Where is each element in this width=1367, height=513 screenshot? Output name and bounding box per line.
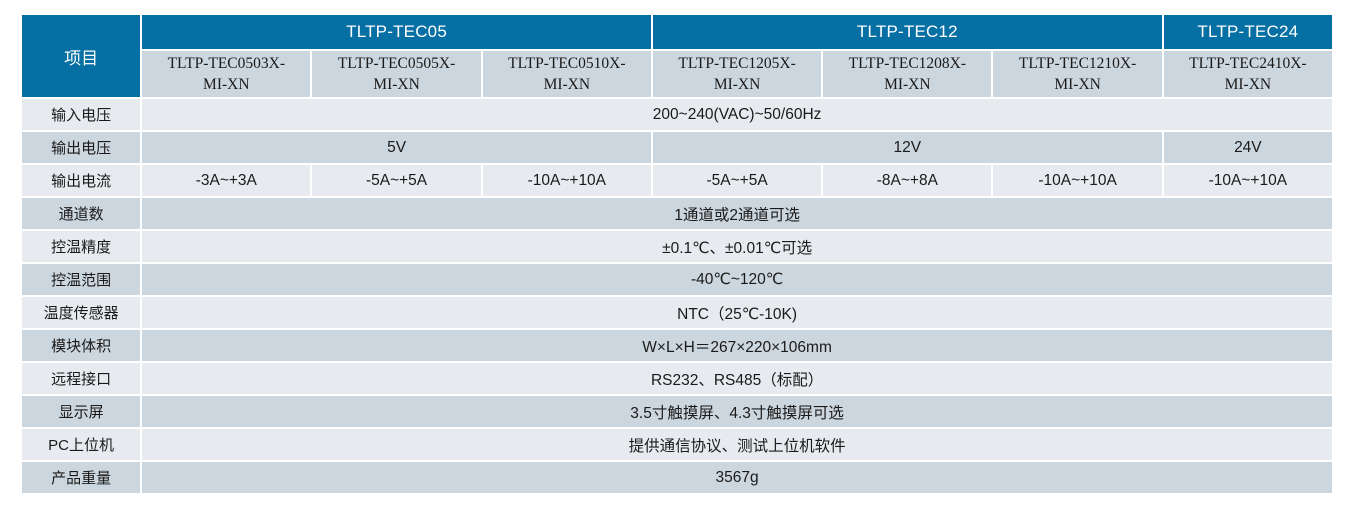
row-value: 24V bbox=[1163, 131, 1333, 164]
header-cell-item: 项目 bbox=[21, 14, 141, 98]
row-value: 5V bbox=[141, 131, 652, 164]
row-label: 产品重量 bbox=[21, 461, 141, 494]
table-row: 输出电压5V12V24V bbox=[21, 131, 1333, 164]
table-row: 远程接口RS232、RS485（标配） bbox=[21, 362, 1333, 395]
header-model-code: TLTP-TEC1208X‐MI‐XN bbox=[822, 50, 992, 98]
row-label: PC上位机 bbox=[21, 428, 141, 461]
header-model-code: TLTP-TEC1210X‐MI‐XN bbox=[992, 50, 1162, 98]
table-row: 输入电压200~240(VAC)~50/60Hz bbox=[21, 98, 1333, 131]
table-row: 温度传感器NTC（25℃-10K) bbox=[21, 296, 1333, 329]
table-body: 输入电压200~240(VAC)~50/60Hz输出电压5V12V24V输出电流… bbox=[21, 98, 1333, 494]
specification-table: 项目 TLTP-TEC05TLTP-TEC12TLTP-TEC24 TLTP-T… bbox=[21, 14, 1333, 494]
row-value: -10A~+10A bbox=[482, 164, 652, 197]
header-model-code: TLTP-TEC1205X‐MI‐XN bbox=[652, 50, 822, 98]
table-row: 控温精度±0.1℃、±0.01℃可选 bbox=[21, 230, 1333, 263]
header-series-group: TLTP-TEC24 bbox=[1163, 14, 1333, 50]
row-value: -5A~+5A bbox=[652, 164, 822, 197]
row-value: ±0.1℃、±0.01℃可选 bbox=[141, 230, 1333, 263]
row-label: 通道数 bbox=[21, 197, 141, 230]
row-label: 模块体积 bbox=[21, 329, 141, 362]
row-value: -8A~+8A bbox=[822, 164, 992, 197]
row-value: 200~240(VAC)~50/60Hz bbox=[141, 98, 1333, 131]
row-value: -10A~+10A bbox=[1163, 164, 1333, 197]
header-model-code: TLTP-TEC0505X‐MI‐XN bbox=[311, 50, 481, 98]
row-value: -3A~+3A bbox=[141, 164, 311, 197]
row-label: 显示屏 bbox=[21, 395, 141, 428]
row-label: 温度传感器 bbox=[21, 296, 141, 329]
row-label: 输入电压 bbox=[21, 98, 141, 131]
row-label: 输出电流 bbox=[21, 164, 141, 197]
row-value: 3567g bbox=[141, 461, 1333, 494]
table-row: PC上位机提供通信协议、测试上位机软件 bbox=[21, 428, 1333, 461]
table-row: 输出电流-3A~+3A-5A~+5A-10A~+10A-5A~+5A-8A~+8… bbox=[21, 164, 1333, 197]
row-value: -10A~+10A bbox=[992, 164, 1162, 197]
row-value: 3.5寸触摸屏、4.3寸触摸屏可选 bbox=[141, 395, 1333, 428]
row-value: 提供通信协议、测试上位机软件 bbox=[141, 428, 1333, 461]
row-value: 12V bbox=[652, 131, 1163, 164]
header-series-group: TLTP-TEC12 bbox=[652, 14, 1163, 50]
header-series-group: TLTP-TEC05 bbox=[141, 14, 652, 50]
row-value: W×L×H＝267×220×106mm bbox=[141, 329, 1333, 362]
row-value: NTC（25℃-10K) bbox=[141, 296, 1333, 329]
specification-table-container: 项目 TLTP-TEC05TLTP-TEC12TLTP-TEC24 TLTP-T… bbox=[21, 14, 1333, 494]
table-row: 产品重量3567g bbox=[21, 461, 1333, 494]
header-model-code: TLTP-TEC2410X‐MI‐XN bbox=[1163, 50, 1333, 98]
header-model-code: TLTP-TEC0503X‐MI‐XN bbox=[141, 50, 311, 98]
row-label: 输出电压 bbox=[21, 131, 141, 164]
header-model-code: TLTP-TEC0510X‐MI‐XN bbox=[482, 50, 652, 98]
table-row: 通道数1通道或2通道可选 bbox=[21, 197, 1333, 230]
row-label: 控温精度 bbox=[21, 230, 141, 263]
header-row-models: TLTP-TEC0503X‐MI‐XNTLTP-TEC0505X‐MI‐XNTL… bbox=[21, 50, 1333, 98]
table-header: 项目 TLTP-TEC05TLTP-TEC12TLTP-TEC24 TLTP-T… bbox=[21, 14, 1333, 98]
row-label: 远程接口 bbox=[21, 362, 141, 395]
row-value: RS232、RS485（标配） bbox=[141, 362, 1333, 395]
table-row: 控温范围-40℃~120℃ bbox=[21, 263, 1333, 296]
table-row: 模块体积W×L×H＝267×220×106mm bbox=[21, 329, 1333, 362]
row-value: -40℃~120℃ bbox=[141, 263, 1333, 296]
row-label: 控温范围 bbox=[21, 263, 141, 296]
header-row-series: 项目 TLTP-TEC05TLTP-TEC12TLTP-TEC24 bbox=[21, 14, 1333, 50]
table-row: 显示屏3.5寸触摸屏、4.3寸触摸屏可选 bbox=[21, 395, 1333, 428]
row-value: 1通道或2通道可选 bbox=[141, 197, 1333, 230]
row-value: -5A~+5A bbox=[311, 164, 481, 197]
